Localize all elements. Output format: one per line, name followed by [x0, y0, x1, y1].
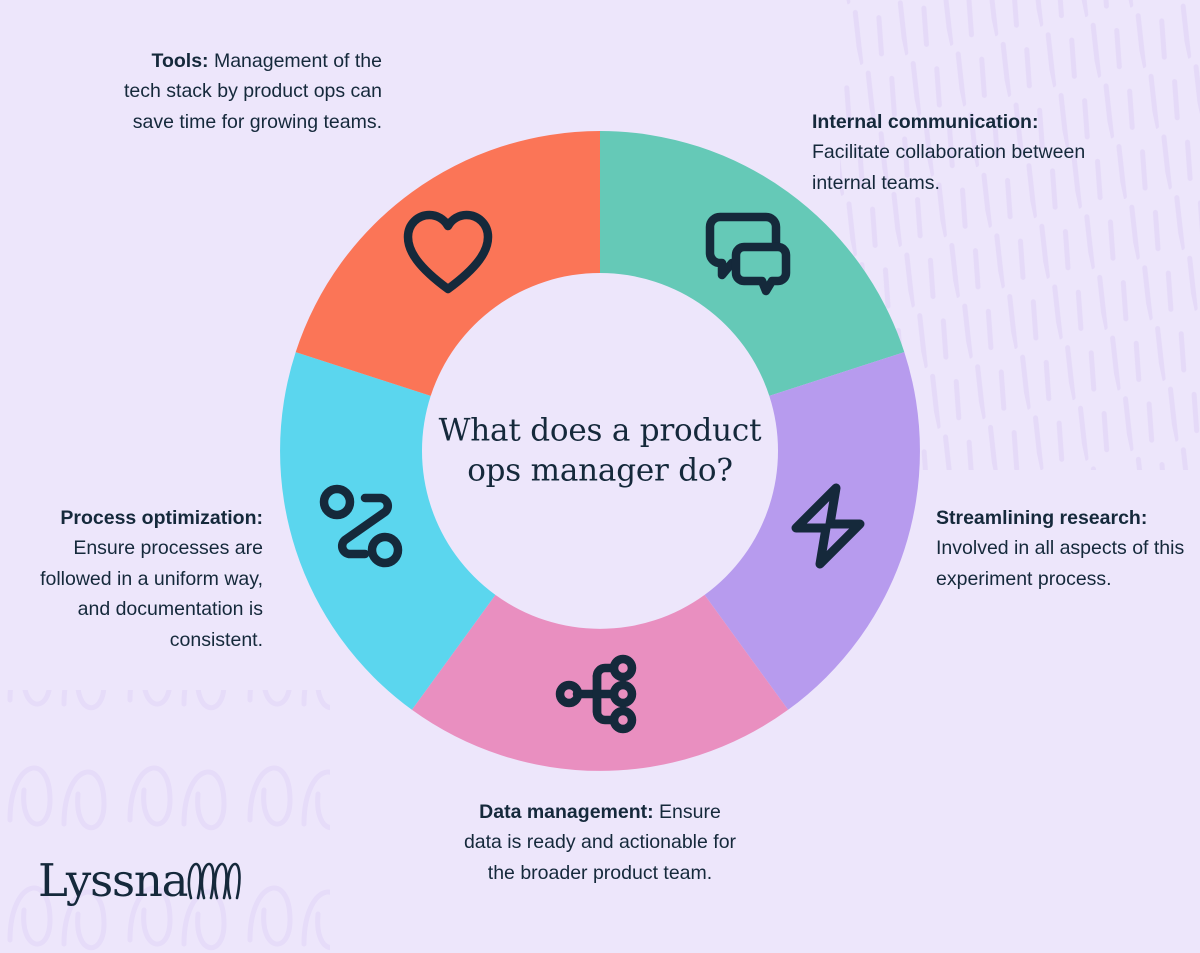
callout-process-optimization-body: Ensure processes are followed in a unifo…	[40, 537, 263, 650]
lightning-bolt-icon	[780, 478, 876, 574]
logo-wordmark: Lyssna	[38, 858, 187, 903]
lyssna-logo: Lyssna	[38, 858, 243, 903]
center-title: What does a product ops manager do?	[435, 411, 765, 492]
route-icon	[313, 478, 409, 574]
callout-process-optimization-title: Process optimization:	[60, 507, 263, 529]
squiggle-mark	[185, 860, 243, 900]
hierarchy-icon	[551, 646, 647, 742]
callout-streamlining-research-body: Involved in all aspects of this experime…	[936, 537, 1184, 589]
callout-tools-title: Tools:	[152, 50, 209, 72]
callout-data-management-title: Data management:	[479, 801, 653, 823]
chat-bubbles-icon	[700, 205, 796, 301]
callout-streamlining-research-title: Streamlining research:	[936, 507, 1147, 529]
heart-icon	[400, 205, 496, 301]
callout-streamlining-research: Streamlining research: Involved in all a…	[936, 503, 1186, 594]
callout-internal-communication-title: Internal communication:	[812, 111, 1038, 133]
callout-data-management: Data management: Ensure data is ready an…	[460, 797, 740, 888]
callout-internal-communication: Internal communication: Facilitate colla…	[812, 107, 1102, 198]
callout-internal-communication-body: Facilitate collaboration between interna…	[812, 141, 1085, 193]
callout-tools: Tools: Management of the tech stack by p…	[120, 46, 382, 137]
infographic-stage: What does a product ops manager do?	[0, 0, 1200, 953]
callout-process-optimization: Process optimization: Ensure processes a…	[18, 503, 263, 655]
